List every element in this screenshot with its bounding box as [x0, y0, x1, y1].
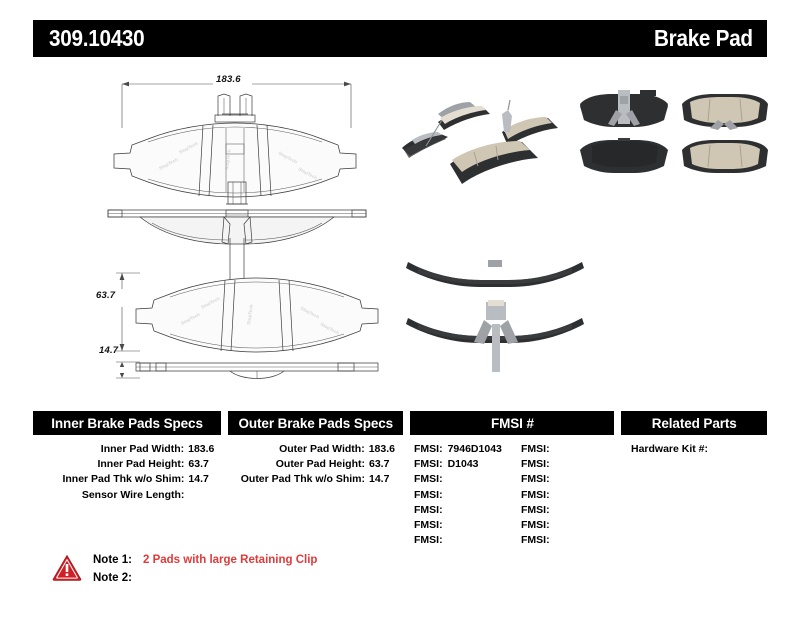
fmsi-row: FMSI:: [516, 533, 615, 548]
fmsi-label: FMSI:: [521, 518, 550, 533]
fmsi-row: FMSI: D1043: [409, 457, 508, 472]
related-part-row: Hardware Kit #:: [622, 442, 767, 457]
pad-angled-1: [402, 132, 448, 158]
fmsi-label: FMSI:: [414, 533, 443, 548]
fmsi-row: FMSI:: [516, 472, 615, 487]
fmsi-subcolumn-right: FMSI: FMSI: FMSI: FMSI:: [516, 442, 615, 548]
thickness-dimension-line: [116, 362, 140, 378]
fmsi-label: FMSI:: [414, 518, 443, 533]
warning-triangle-icon: [52, 554, 82, 581]
note-2-label: Note 2:: [93, 570, 143, 588]
specs-table: Inner Brake Pads Specs Outer Brake Pads …: [33, 411, 767, 548]
notes-text-block: Note 1: 2 Pads with large Retaining Clip…: [93, 552, 317, 587]
spec-value: 63.7: [369, 457, 395, 472]
spec-row: Outer Pad Width: 183.6: [227, 442, 402, 457]
spec-value: 14.7: [188, 472, 214, 487]
fmsi-label: FMSI:: [521, 472, 550, 487]
spec-label: Inner Pad Thk w/o Shim:: [62, 472, 184, 487]
header-bar: 309.10430 Brake Pad: [33, 20, 767, 57]
fmsi-row: FMSI:: [516, 488, 615, 503]
width-dimension-line: [122, 82, 351, 128]
header-inner-specs: Inner Brake Pads Specs: [33, 411, 221, 435]
spec-label: Outer Pad Width:: [279, 442, 365, 457]
clip-stem: [226, 182, 248, 204]
spec-label: Outer Pad Height:: [276, 457, 365, 472]
pad-face-drawing-bottom: StopTech StopTech StopTech StopTech Stop…: [100, 267, 390, 392]
spec-row: Outer Pad Height: 63.7: [227, 457, 402, 472]
column-outer-specs: Outer Pad Width: 183.6 Outer Pad Height:…: [227, 442, 402, 488]
spec-row: Inner Pad Thk w/o Shim: 14.7: [33, 472, 220, 487]
table-body: Inner Pad Width: 183.6 Inner Pad Height:…: [33, 442, 767, 548]
fmsi-row: FMSI:: [516, 503, 615, 518]
pad-angled-4-front: [450, 141, 538, 184]
product-photo-edge-views: [400, 240, 600, 375]
technical-drawings: 183.6 63.7 14.7: [0, 62, 800, 392]
spec-value: 183.6: [369, 442, 395, 457]
spec-label: Outer Pad Thk w/o Shim:: [241, 472, 365, 487]
column-fmsi: FMSI: 7946D1043 FMSI: D1043 FMSI: FMSI:: [409, 442, 615, 548]
spec-label: Inner Pad Height:: [97, 457, 184, 472]
fmsi-label: FMSI:: [521, 503, 550, 518]
pad-angled-3: [502, 100, 558, 146]
fmsi-row: FMSI: 7946D1043: [409, 442, 508, 457]
fmsi-label: FMSI:: [521, 442, 550, 457]
note-1-row: Note 1: 2 Pads with large Retaining Clip: [93, 552, 317, 570]
spec-value: 14.7: [369, 472, 395, 487]
fmsi-label: FMSI:: [521, 488, 550, 503]
note-2-row: Note 2:: [93, 570, 317, 588]
pad-grid-bottom-left: [580, 138, 668, 173]
column-related-parts: Hardware Kit #:: [622, 442, 767, 457]
fmsi-label: FMSI:: [521, 457, 550, 472]
part-number: 309.10430: [49, 27, 144, 50]
fmsi-row: FMSI:: [409, 503, 508, 518]
fmsi-row: FMSI:: [409, 488, 508, 503]
spec-row: Inner Pad Width: 183.6: [33, 442, 220, 457]
spec-label: Inner Pad Width:: [101, 442, 184, 457]
fmsi-value: 7946D1043: [448, 442, 502, 457]
fmsi-value: D1043: [448, 457, 479, 472]
spec-value: 183.6: [188, 442, 214, 457]
retaining-clip-top: [215, 94, 255, 122]
header-fmsi: FMSI #: [410, 411, 614, 435]
pad-grid-top-left: [580, 90, 668, 127]
fmsi-row: FMSI:: [409, 472, 508, 487]
spec-label: Sensor Wire Length:: [82, 488, 185, 503]
fmsi-label: FMSI:: [414, 457, 443, 472]
fmsi-row: FMSI:: [516, 442, 615, 457]
spec-row: Inner Pad Height: 63.7: [33, 457, 220, 472]
fmsi-label: FMSI:: [414, 472, 443, 487]
notes-section: Note 1: 2 Pads with large Retaining Clip…: [52, 552, 317, 587]
header-outer-specs: Outer Brake Pads Specs: [228, 411, 403, 435]
spec-row: Outer Pad Thk w/o Shim: 14.7: [227, 472, 402, 487]
product-photo-angled-group: [398, 80, 578, 190]
pad-edge-top: [406, 260, 584, 287]
product-type: Brake Pad: [654, 27, 753, 50]
fmsi-label: FMSI:: [414, 488, 443, 503]
fmsi-label: FMSI:: [414, 503, 443, 518]
note-1-label: Note 1:: [93, 552, 143, 570]
note-1-text: 2 Pads with large Retaining Clip: [143, 552, 317, 570]
table-header-row: Inner Brake Pads Specs Outer Brake Pads …: [33, 411, 767, 435]
spec-sheet-page: 309.10430 Brake Pad 183.6 63.7 14.7: [0, 0, 800, 619]
fmsi-row: FMSI:: [409, 518, 508, 533]
fmsi-subcolumn-left: FMSI: 7946D1043 FMSI: D1043 FMSI: FMSI:: [409, 442, 508, 548]
fmsi-label: FMSI:: [414, 442, 443, 457]
spec-row: Sensor Wire Length:: [33, 488, 220, 503]
fmsi-row: FMSI:: [516, 518, 615, 533]
spec-value: 63.7: [188, 457, 214, 472]
column-inner-specs: Inner Pad Width: 183.6 Inner Pad Height:…: [33, 442, 220, 503]
product-photo-grid: [578, 80, 768, 190]
pad-edge-bottom-with-clip: [406, 300, 584, 372]
fmsi-label: FMSI:: [521, 533, 550, 548]
fmsi-row: FMSI:: [409, 533, 508, 548]
fmsi-row: FMSI:: [516, 457, 615, 472]
pad-grid-top-right: [682, 94, 768, 130]
header-related-parts: Related Parts: [621, 411, 767, 435]
pad-grid-bottom-right: [682, 140, 768, 173]
